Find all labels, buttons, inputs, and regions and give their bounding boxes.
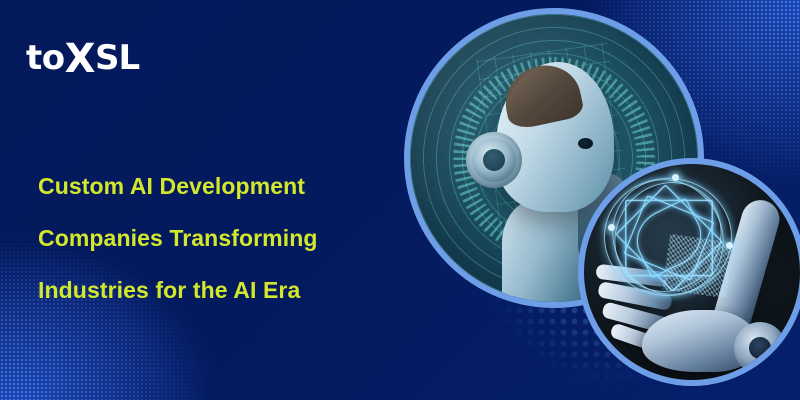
promo-banner: toXSL Custom AI Development Companies Tr… (0, 0, 800, 400)
logo-text-to: to (26, 38, 65, 78)
headline-line-2: Companies Transforming (38, 212, 438, 264)
logo-text-x: X (65, 36, 95, 82)
headline-line-3: Industries for the AI Era (38, 264, 438, 316)
toxsl-logo[interactable]: toXSL (26, 36, 139, 76)
headline-line-1: Custom AI Development (38, 160, 438, 212)
circle-glow-overlay (584, 164, 800, 380)
page-title: Custom AI Development Companies Transfor… (38, 160, 438, 316)
robot-hand-circle-image (578, 158, 800, 386)
logo-text-sl: SL (95, 38, 139, 78)
